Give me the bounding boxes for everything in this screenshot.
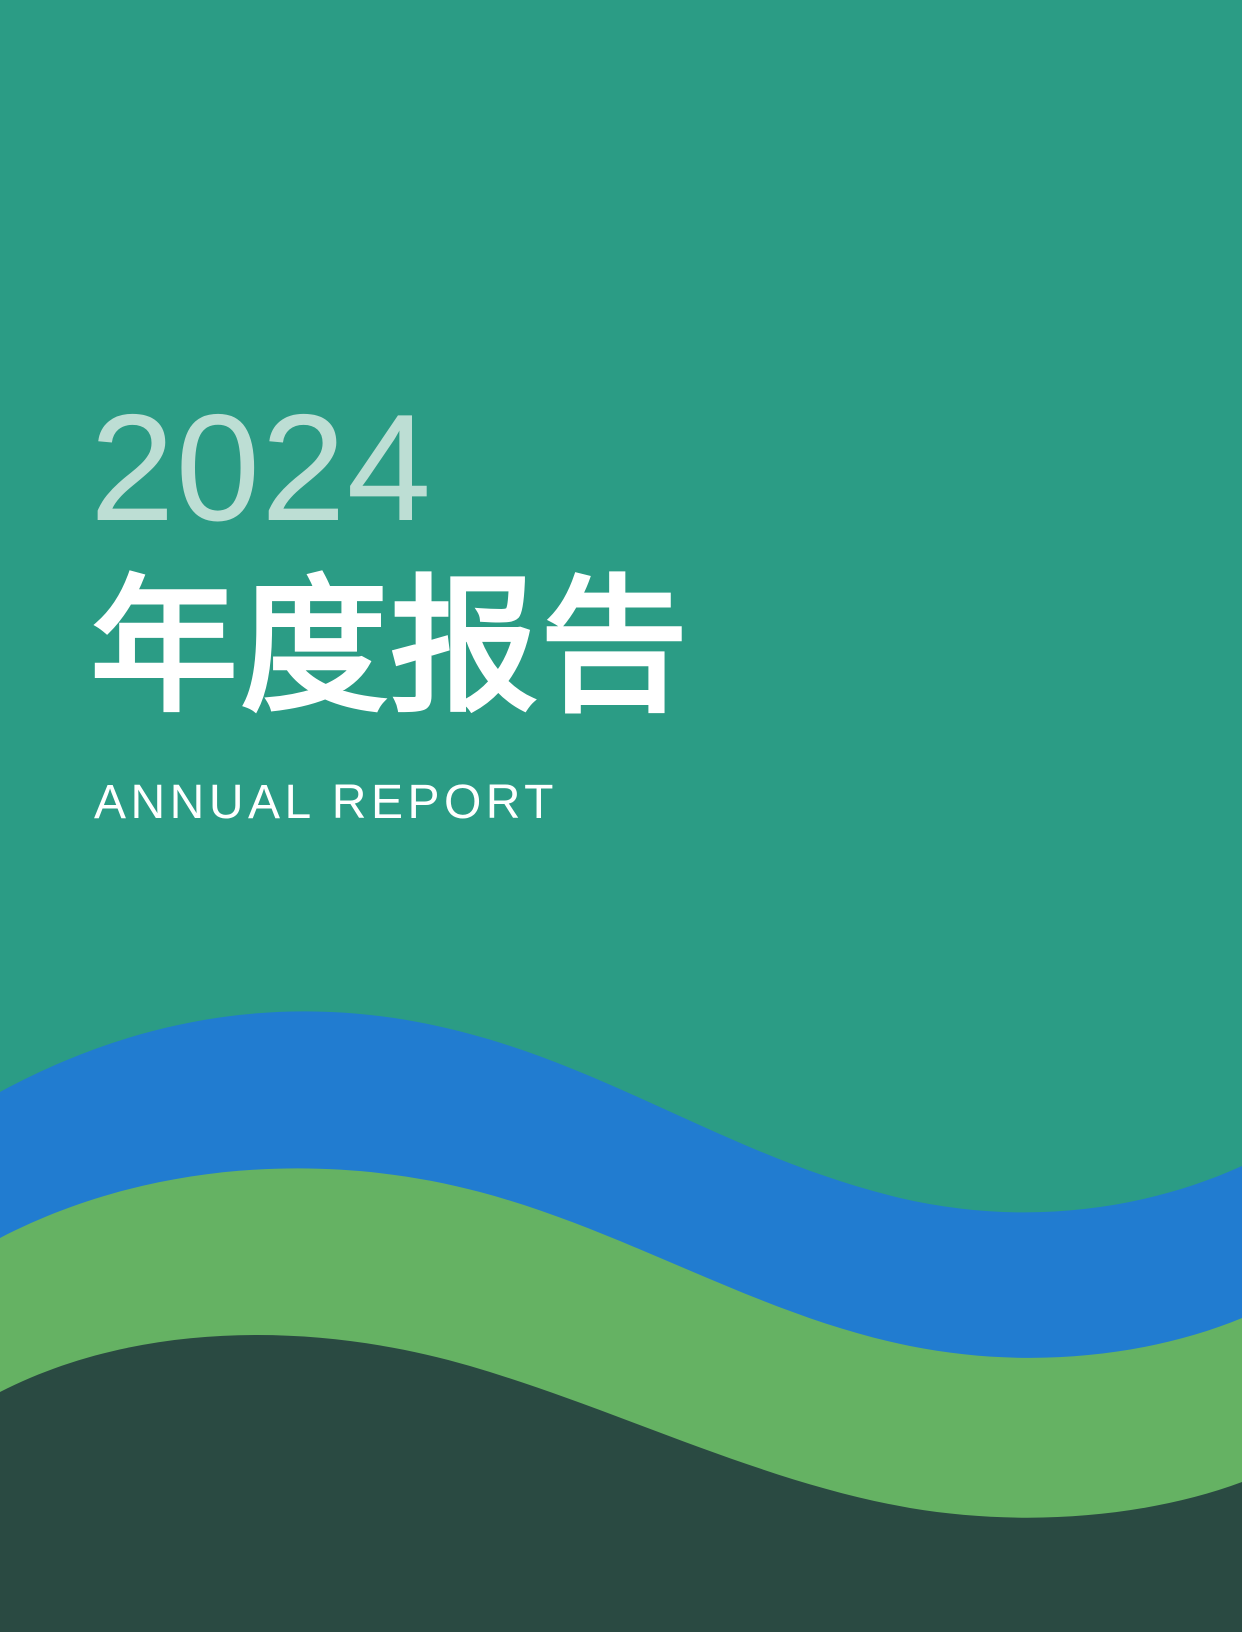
- report-year: 2024: [90, 392, 990, 544]
- page-subtitle-en: ANNUAL REPORT: [94, 779, 990, 827]
- annual-report-cover-page: 2024 年度报告 ANNUAL REPORT: [0, 0, 1242, 1632]
- page-title: 年度报告: [90, 570, 990, 727]
- cover-title-block: 2024 年度报告 ANNUAL REPORT: [90, 392, 990, 827]
